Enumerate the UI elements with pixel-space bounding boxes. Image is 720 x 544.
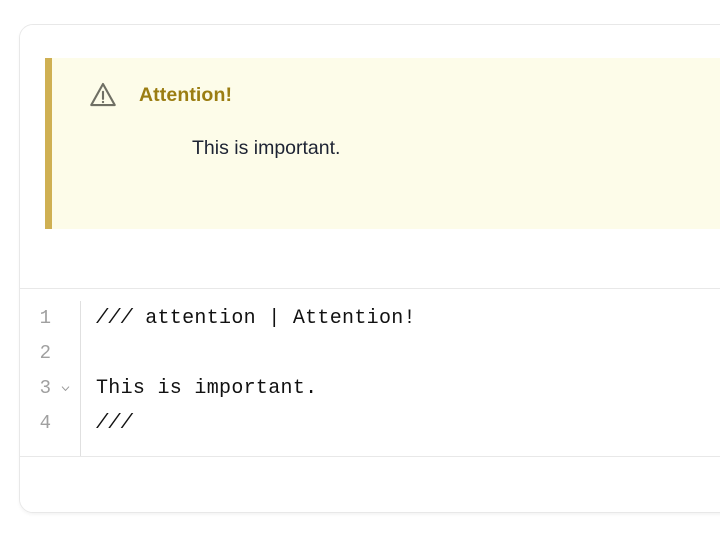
line-number: 2 bbox=[20, 336, 80, 371]
chevron-down-icon[interactable] bbox=[58, 371, 72, 406]
line-number-with-fold: 3 bbox=[20, 371, 80, 406]
code-fence-token: /// bbox=[96, 412, 133, 435]
line-number: 1 bbox=[20, 301, 80, 336]
rendered-preview-pane: Attention! This is important. bbox=[20, 25, 720, 288]
attention-callout: Attention! This is important. bbox=[45, 58, 720, 229]
line-number-gutter: 1 2 3 4 bbox=[20, 301, 81, 456]
callout-body-text: This is important. bbox=[192, 137, 720, 160]
code-line-text: attention | Attention! bbox=[133, 307, 416, 330]
source-code-pane: 1 2 3 4 /// attention | Attention! This … bbox=[20, 289, 720, 456]
callout-title: Attention! bbox=[139, 84, 232, 107]
code-text-area[interactable]: /// attention | Attention! This is impor… bbox=[81, 301, 720, 456]
code-line: This is important. bbox=[96, 371, 720, 406]
page-root: Attention! This is important. 1 2 3 bbox=[0, 0, 720, 544]
example-card: Attention! This is important. 1 2 3 bbox=[19, 24, 720, 513]
callout-title-row: Attention! bbox=[88, 80, 720, 110]
line-number-label: 3 bbox=[40, 377, 51, 399]
code-line-text: This is important. bbox=[96, 377, 317, 400]
line-number: 4 bbox=[20, 406, 80, 441]
warning-triangle-icon bbox=[88, 80, 118, 110]
code-line: /// attention | Attention! bbox=[96, 301, 720, 336]
code-line: /// bbox=[96, 406, 720, 441]
code-fence-token: /// bbox=[96, 307, 133, 330]
card-footer bbox=[20, 457, 720, 513]
code-line bbox=[96, 336, 720, 371]
